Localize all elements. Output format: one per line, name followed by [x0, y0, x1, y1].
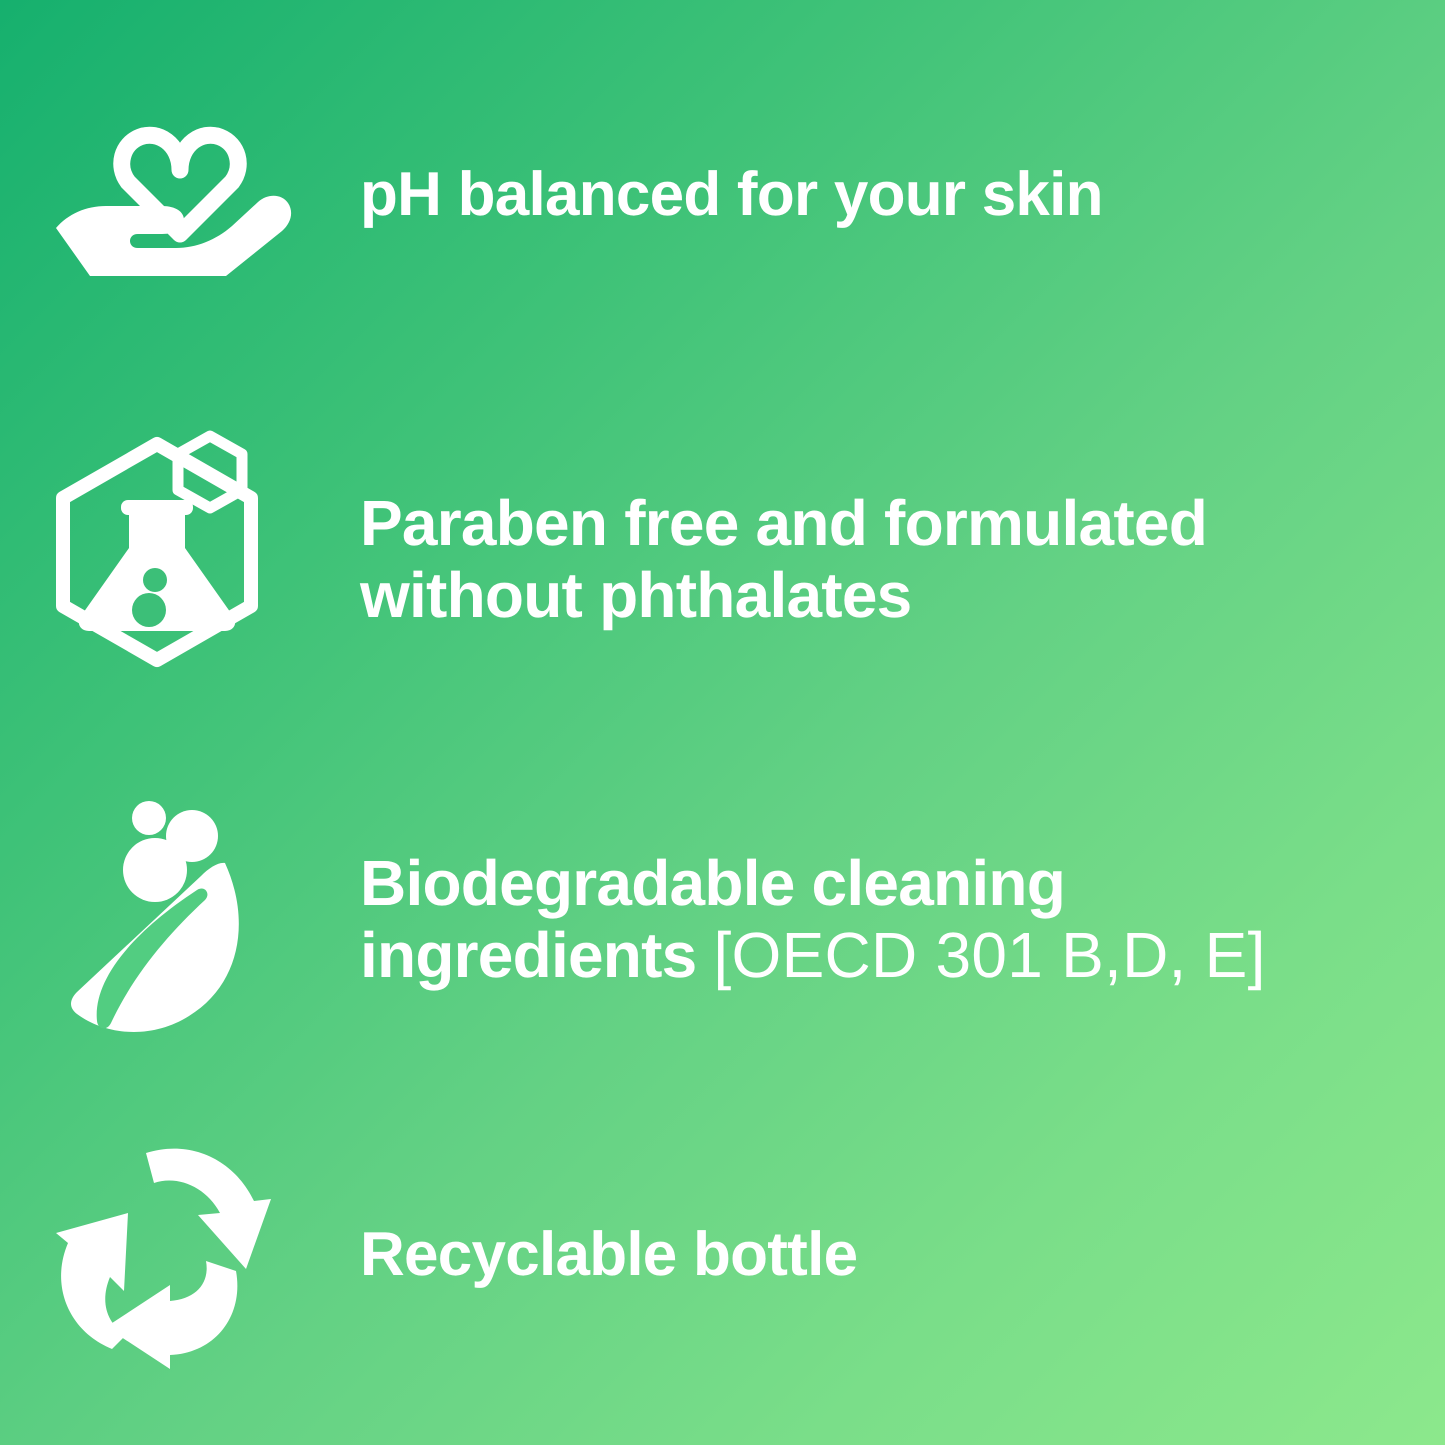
feature-row-recyclable-bottle: Recyclable bottle	[0, 1130, 1445, 1380]
hexagon-flask-icon	[45, 420, 315, 700]
feature-icon-cell	[0, 110, 360, 280]
product-benefits-panel: pH balanced for your skin Paraben free a…	[0, 0, 1445, 1445]
feature-text-cell: Paraben free and formulated without phth…	[360, 488, 1445, 631]
feature-label-paraben-free: Paraben free and formulated without phth…	[360, 488, 1405, 631]
feature-icon-cell	[0, 790, 360, 1050]
bubble-large	[123, 838, 187, 902]
feature-label-ph-balanced: pH balanced for your skin	[360, 160, 1405, 229]
feature-text-cell: Biodegradable cleaning ingredients [OECD…	[360, 848, 1445, 991]
recycle-icon	[50, 1143, 310, 1368]
feature-row-paraben-free: Paraben free and formulated without phth…	[0, 415, 1445, 705]
feature-row-ph-balanced: pH balanced for your skin	[0, 105, 1445, 285]
feature-text-cell: pH balanced for your skin	[360, 160, 1445, 229]
feature-label-recyclable-bottle: Recyclable bottle	[360, 1220, 1405, 1289]
feature-label-biodegradable: Biodegradable cleaning ingredients [OECD…	[360, 848, 1405, 991]
feature-text-cell: Recyclable bottle	[360, 1220, 1445, 1289]
hand-heart-icon	[50, 110, 310, 280]
leaf-bubbles-icon	[55, 790, 305, 1050]
feature-icon-cell	[0, 420, 360, 700]
bubble-small	[132, 801, 166, 835]
feature-label-oecd-reference: [OECD 301 B,D, E]	[714, 919, 1266, 991]
feature-row-biodegradable: Biodegradable cleaning ingredients [OECD…	[0, 775, 1445, 1065]
feature-icon-cell	[0, 1143, 360, 1368]
